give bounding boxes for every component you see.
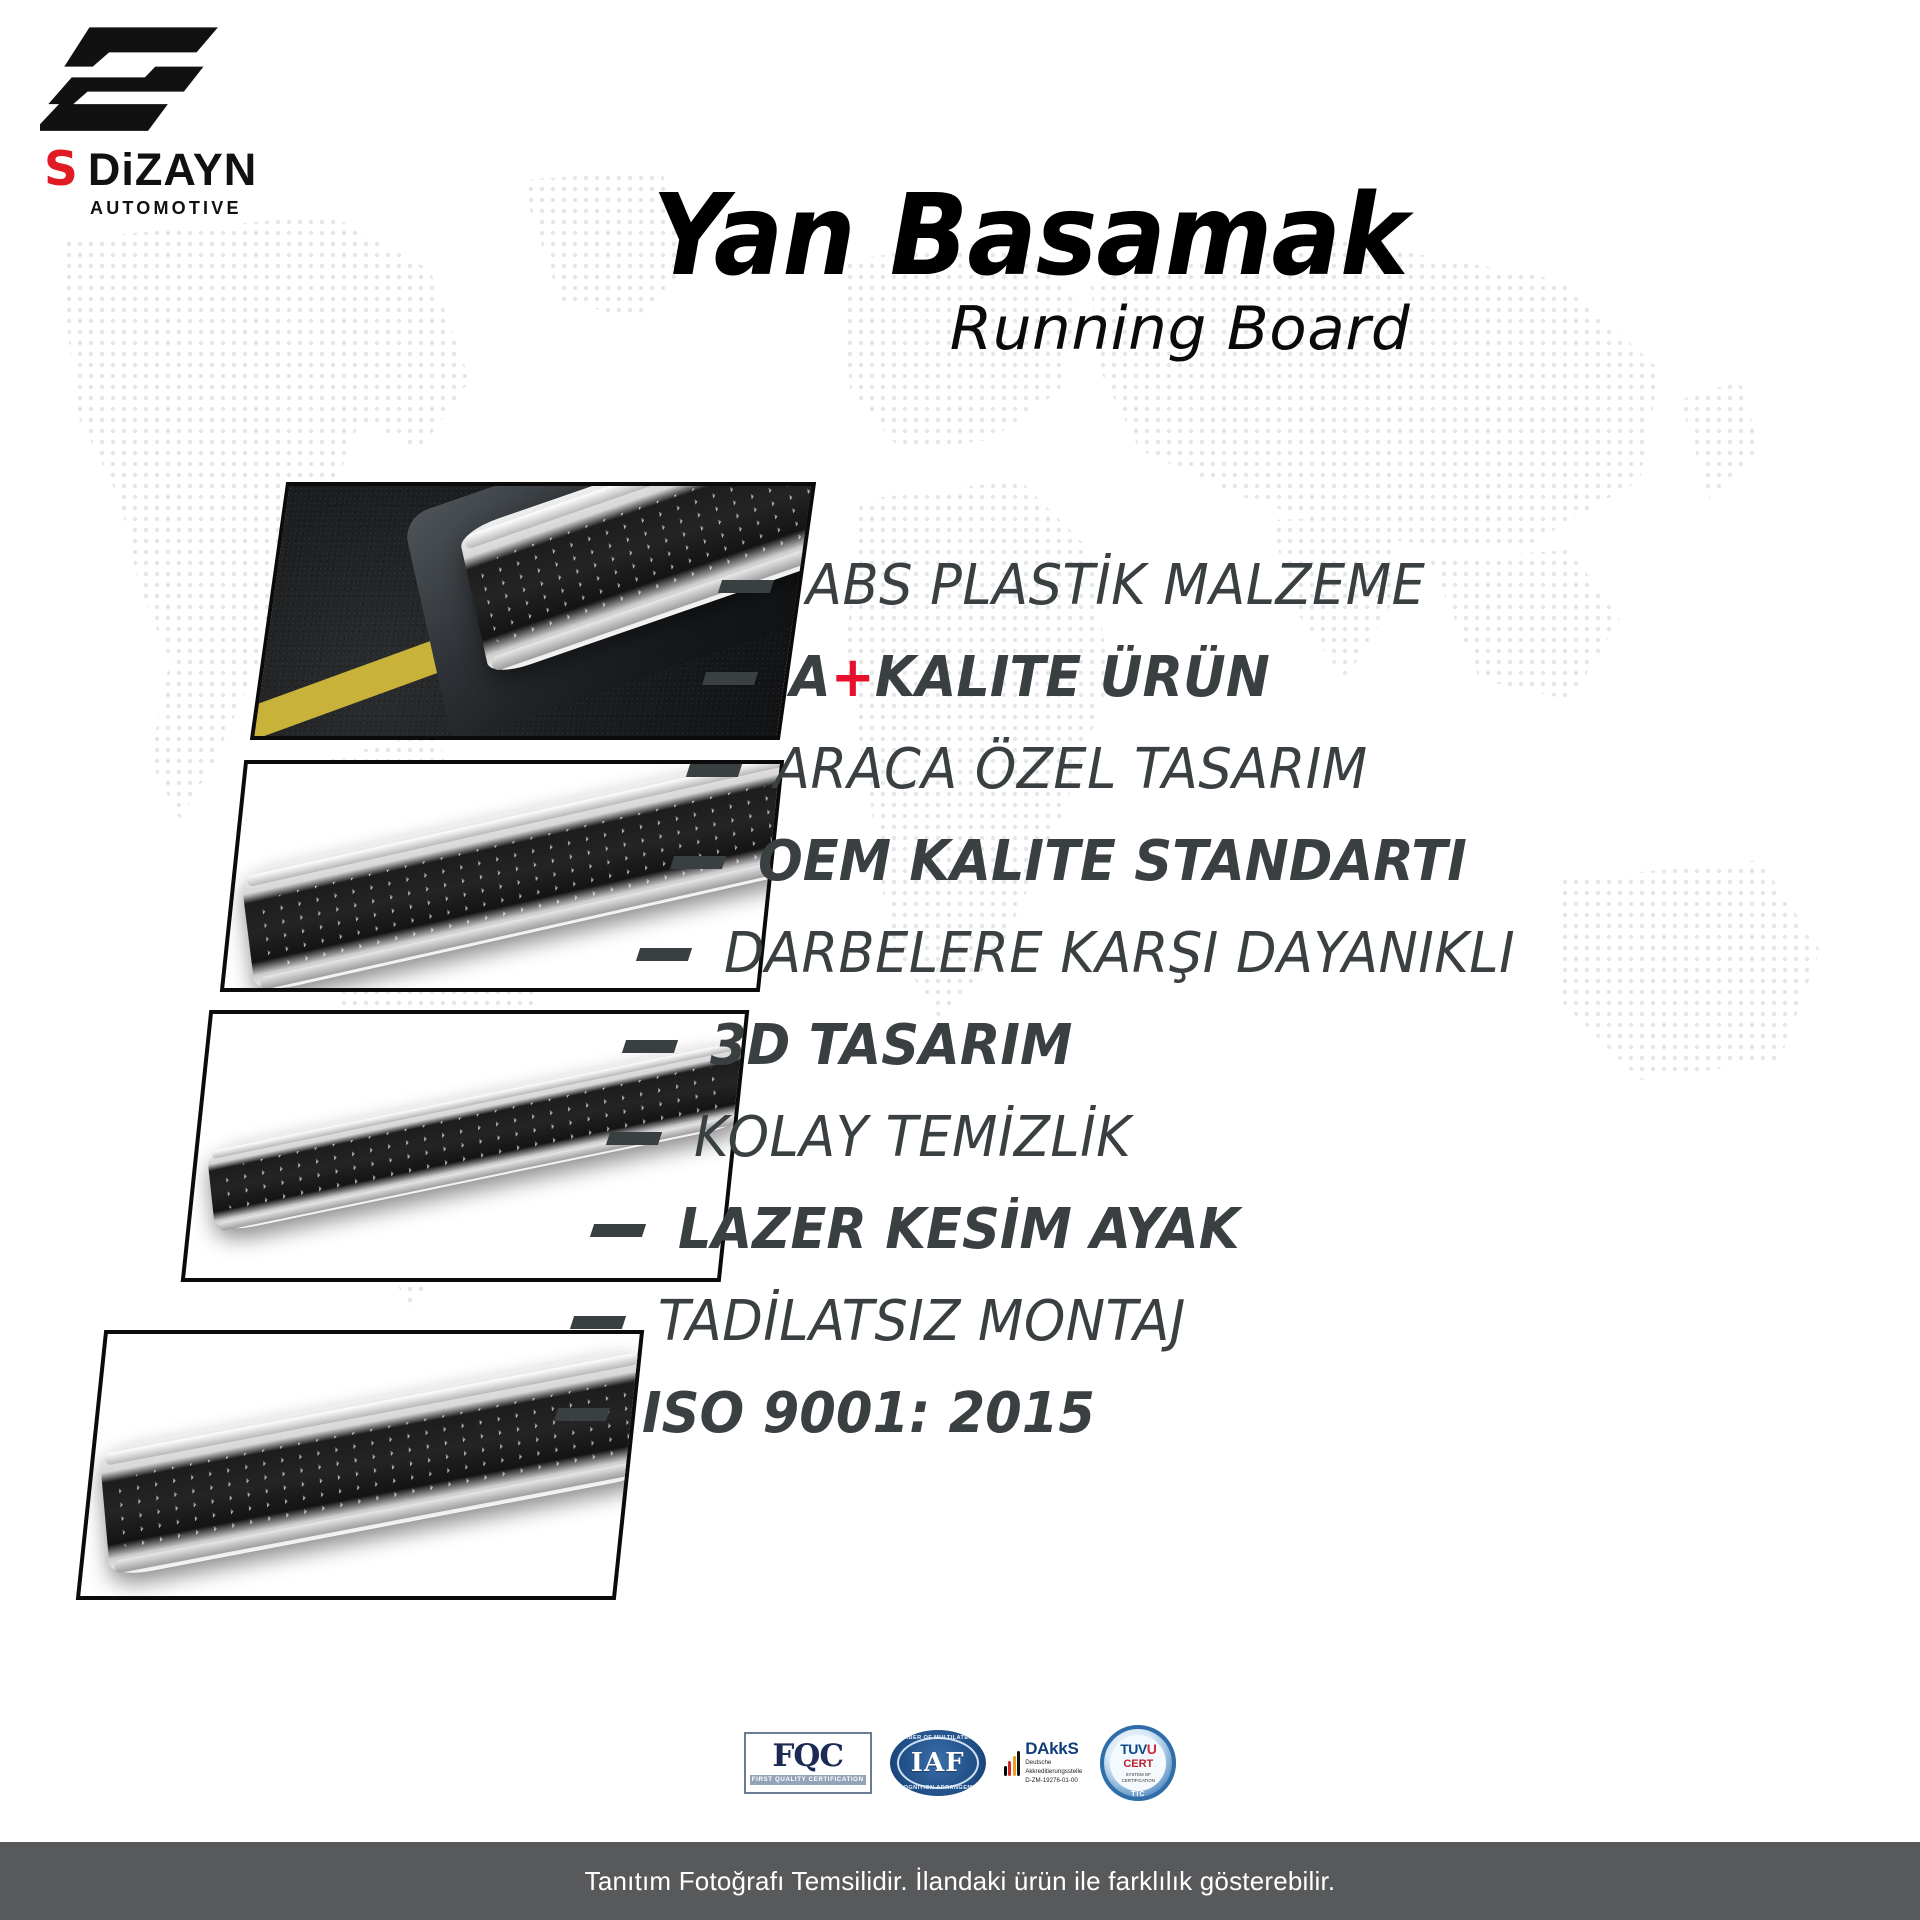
- dakks-mark: DAkkS: [1025, 1740, 1082, 1757]
- feature-list: ABS PLASTİK MALZEME A+KALITE ÜRÜN ARACA …: [520, 540, 1920, 1460]
- feature-prefix: A: [790, 645, 831, 710]
- plus-accent: +: [831, 645, 875, 710]
- feature-label: DARBELERE KARŞI DAYANIKLI: [724, 926, 1515, 982]
- disclaimer-bar: Tanıtım Fotoğrafı Temsilidir. İlandaki ü…: [0, 1842, 1920, 1920]
- feature-item: TADİLATSIZ MONTAJ: [572, 1276, 1920, 1368]
- feature-suffix: KALITE ÜRÜN: [875, 645, 1270, 710]
- feature-label: ISO 9001: 2015: [642, 1386, 1095, 1442]
- feature-label: 3D TASARIM: [710, 1018, 1072, 1074]
- feature-item: DARBELERE KARŞI DAYANIKLI: [638, 908, 1920, 1000]
- feature-item: A+KALITE ÜRÜN: [704, 632, 1920, 724]
- disclaimer-text: Tanıtım Fotoğrafı Temsilidir. İlandaki ü…: [585, 1866, 1336, 1897]
- dakks-bars-icon: [1004, 1750, 1021, 1776]
- tuv-sub-text: SYSTEM OF CERTIFICATION: [1110, 1772, 1166, 1783]
- dash-bullet-icon: [686, 764, 742, 777]
- feature-item: ABS PLASTİK MALZEME: [720, 540, 1920, 632]
- dash-bullet-icon: [702, 672, 758, 685]
- feature-item: KOLAY TEMİZLİK: [608, 1092, 1920, 1184]
- certification-logos: FQC FIRST QUALITY CERTIFICATION MEMBER O…: [0, 1718, 1920, 1808]
- feature-label: TADİLATSIZ MONTAJ: [658, 1294, 1186, 1350]
- tuv-cert-text: CERT: [1123, 1759, 1153, 1770]
- feature-item: LAZER KESİM AYAK: [592, 1184, 1920, 1276]
- dash-bullet-icon: [670, 856, 726, 869]
- dakks-line-3: D-ZM-19276-01-00: [1025, 1777, 1082, 1786]
- iaf-ring-top-text: MEMBER OF MULTILATERAL: [890, 1735, 986, 1741]
- dash-bullet-icon: [590, 1224, 646, 1237]
- dakks-certification-logo: DAkkS Deutsche Akkreditierungsstelle D-Z…: [1004, 1740, 1083, 1786]
- dash-bullet-icon: [554, 1408, 610, 1421]
- tuv-mark: TUVU: [1120, 1742, 1156, 1756]
- feature-item: 3D TASARIM: [624, 1000, 1920, 1092]
- fqc-caption: FIRST QUALITY CERTIFICATION: [750, 1775, 866, 1784]
- iaf-ring-bottom-text: RECOGNITION ARRANGEMENT: [890, 1785, 986, 1791]
- iaf-certification-logo: MEMBER OF MULTILATERAL IAF RECOGNITION A…: [890, 1730, 986, 1796]
- fqc-certification-logo: FQC FIRST QUALITY CERTIFICATION: [744, 1732, 872, 1794]
- dash-bullet-icon: [570, 1316, 626, 1329]
- feature-label: KOLAY TEMİZLİK: [694, 1110, 1131, 1166]
- dash-bullet-icon: [622, 1040, 678, 1053]
- feature-label: OEM KALITE STANDARTI: [758, 834, 1467, 890]
- dash-bullet-icon: [606, 1132, 662, 1145]
- dakks-line-1: Deutsche: [1025, 1759, 1082, 1768]
- feature-label: ARACA ÖZEL TASARIM: [774, 742, 1368, 798]
- feature-label: A+KALITE ÜRÜN: [790, 650, 1270, 706]
- dakks-line-2: Akkreditierungsstelle: [1025, 1768, 1082, 1777]
- dash-bullet-icon: [636, 948, 692, 961]
- dash-bullet-icon: [718, 580, 774, 593]
- feature-label: ABS PLASTİK MALZEME: [806, 558, 1425, 614]
- feature-item: OEM KALITE STANDARTI: [672, 816, 1920, 908]
- feature-item: ISO 9001: 2015: [556, 1368, 1920, 1460]
- feature-label: LAZER KESİM AYAK: [678, 1202, 1240, 1258]
- iaf-mark: IAF: [911, 1748, 965, 1778]
- fqc-mark: FQC: [772, 1741, 843, 1772]
- tuv-ring-bottom-text: TIC: [1100, 1791, 1176, 1798]
- feature-item: ARACA ÖZEL TASARIM: [688, 724, 1920, 816]
- tuv-cert-certification-logo: TUVU CERT SYSTEM OF CERTIFICATION TIC: [1100, 1725, 1176, 1801]
